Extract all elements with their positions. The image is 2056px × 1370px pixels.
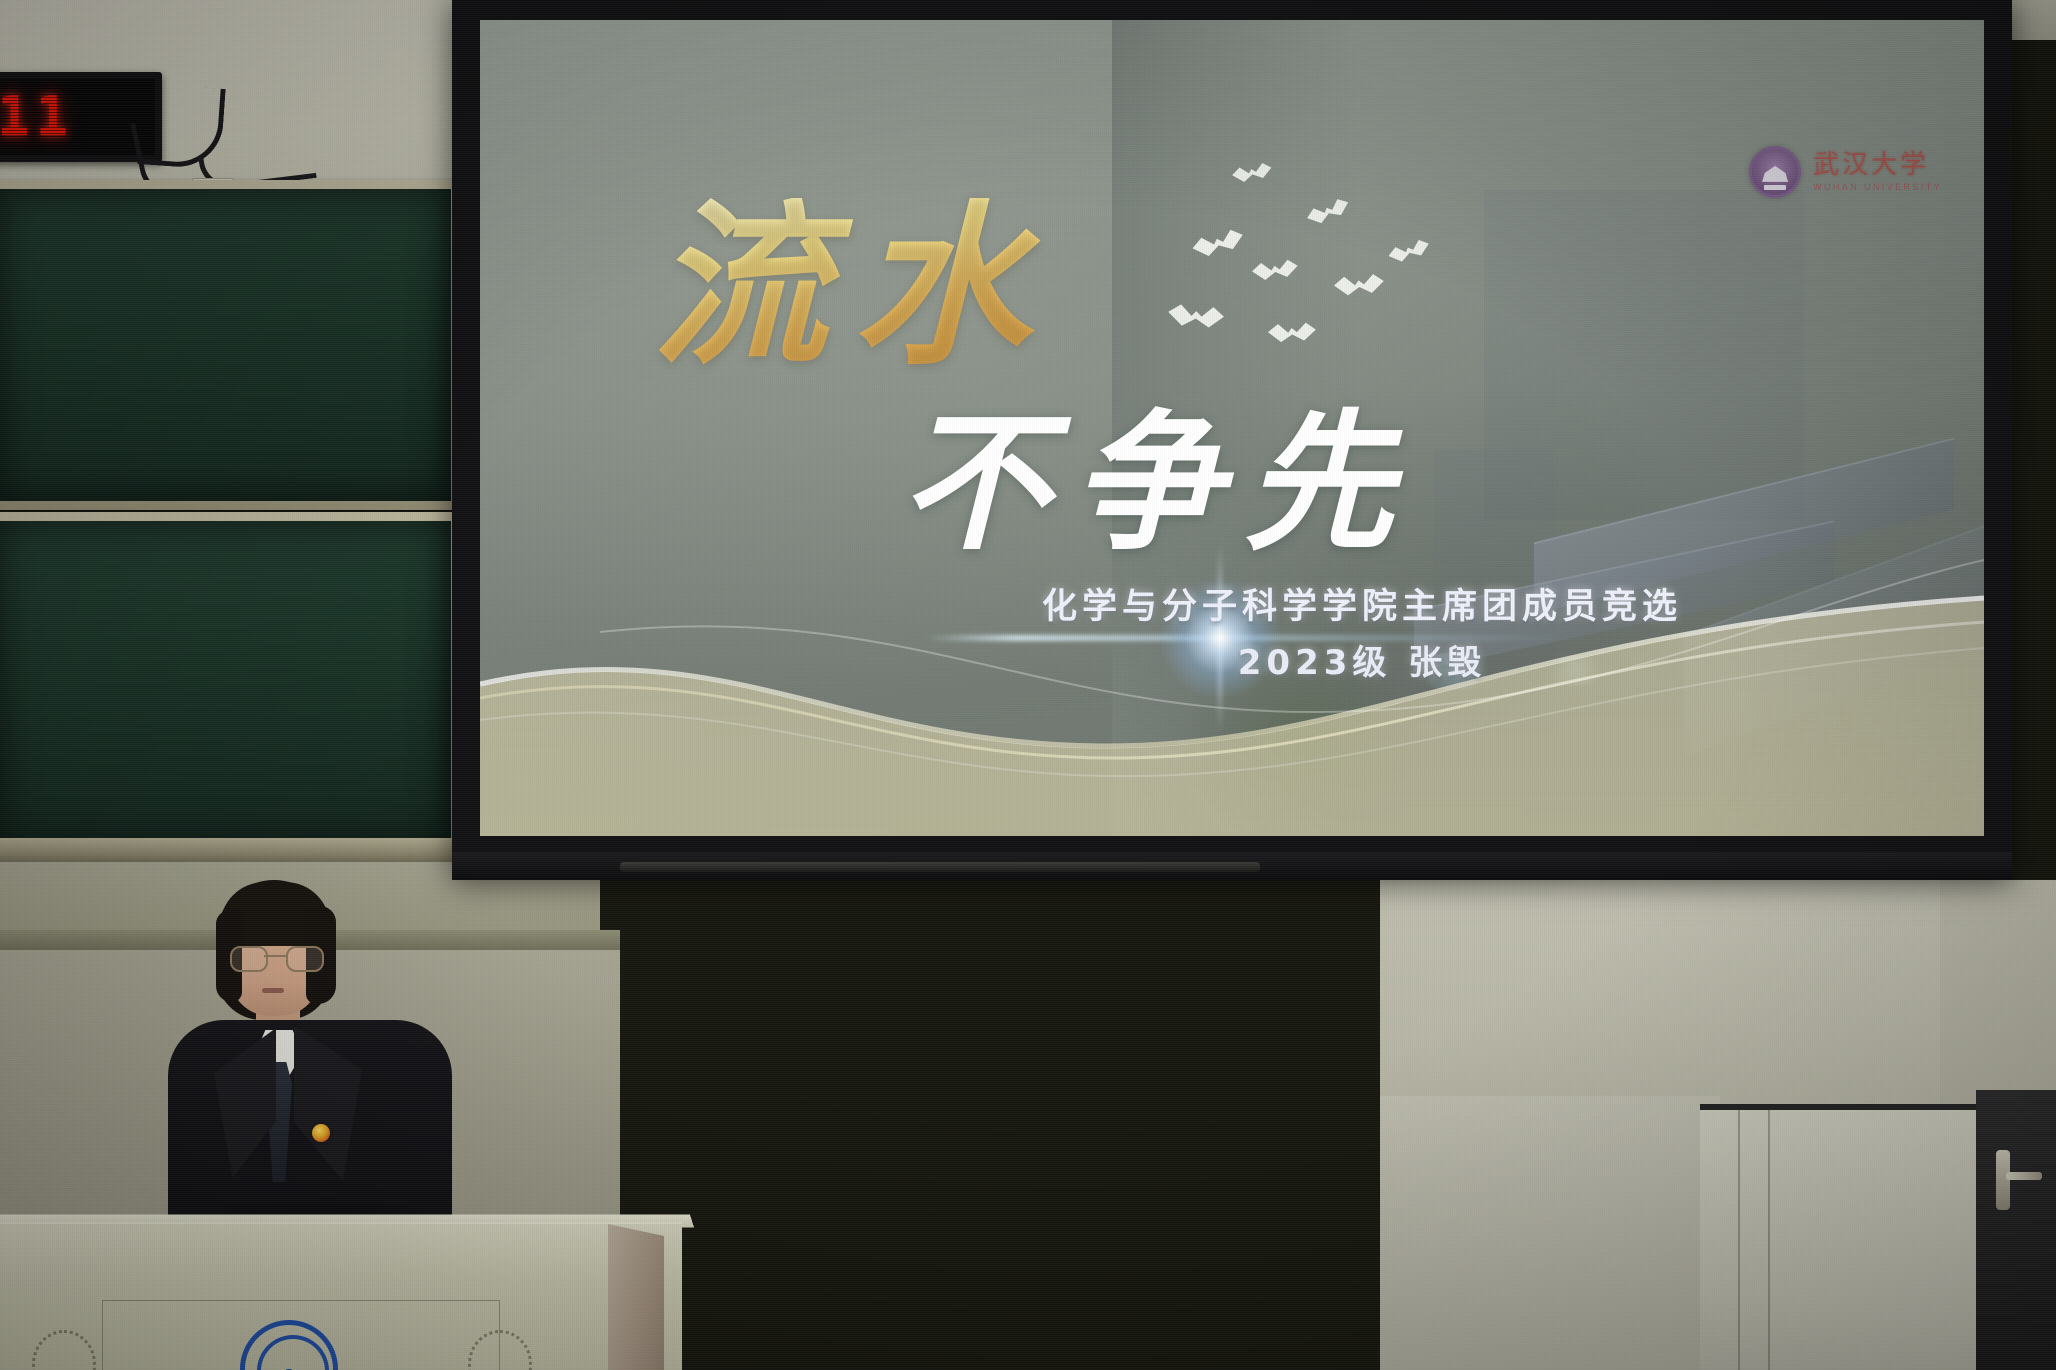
eyeglasses-icon	[228, 946, 324, 968]
wall-panel-seam-2	[1768, 1110, 1770, 1370]
university-crest-icon	[1749, 146, 1801, 198]
wall-panel-seam-1	[1738, 1110, 1740, 1370]
chalk-ledge	[0, 838, 460, 862]
door-handle-bar[interactable]	[2006, 1172, 2042, 1180]
projection-screen-frame: 武汉大学 WUHAN UNIVERSITY	[452, 0, 2012, 872]
crest-arc	[257, 1335, 329, 1370]
wuhan-university-logo: 武汉大学 WUHAN UNIVERSITY	[1749, 146, 1942, 198]
lapel-badge-pin	[312, 1124, 330, 1142]
led-number-value: 11	[0, 90, 74, 144]
blackboard-upper-panel	[0, 180, 460, 510]
glasses-left-lens	[230, 946, 268, 972]
door[interactable]	[1976, 1090, 2056, 1370]
presentation-slide: 武汉大学 WUHAN UNIVERSITY	[480, 20, 1984, 836]
blackboard-lower-panel	[0, 512, 460, 852]
screen-roller-housing	[620, 862, 1260, 872]
university-name-english: WUHAN UNIVERSITY	[1813, 183, 1942, 192]
door-handle-icon[interactable]	[1996, 1150, 2010, 1210]
slide-title-line-2: 不争先	[900, 408, 1416, 558]
university-name-block: 武汉大学 WUHAN UNIVERSITY	[1813, 152, 1942, 192]
presenting-student	[170, 880, 450, 1240]
lectern-side-panel	[608, 1224, 664, 1370]
slide-title-line-1: 流水	[652, 198, 1056, 374]
glasses-bridge	[264, 955, 286, 957]
wall-panel-right	[1700, 1104, 1990, 1370]
slide-subtitle-event: 化学与分子科学学院主席团成员竞选	[480, 578, 1984, 629]
university-name-chinese: 武汉大学	[1813, 152, 1942, 178]
mouth	[262, 988, 284, 993]
slide-subtitle-presenter: 2023级 张毁	[480, 635, 1984, 684]
glasses-right-lens	[286, 946, 324, 972]
right-side-surface	[1380, 1096, 1720, 1370]
lecture-hall-scene: 11 武汉大学 WUHAN UNIVE	[0, 0, 2056, 1370]
